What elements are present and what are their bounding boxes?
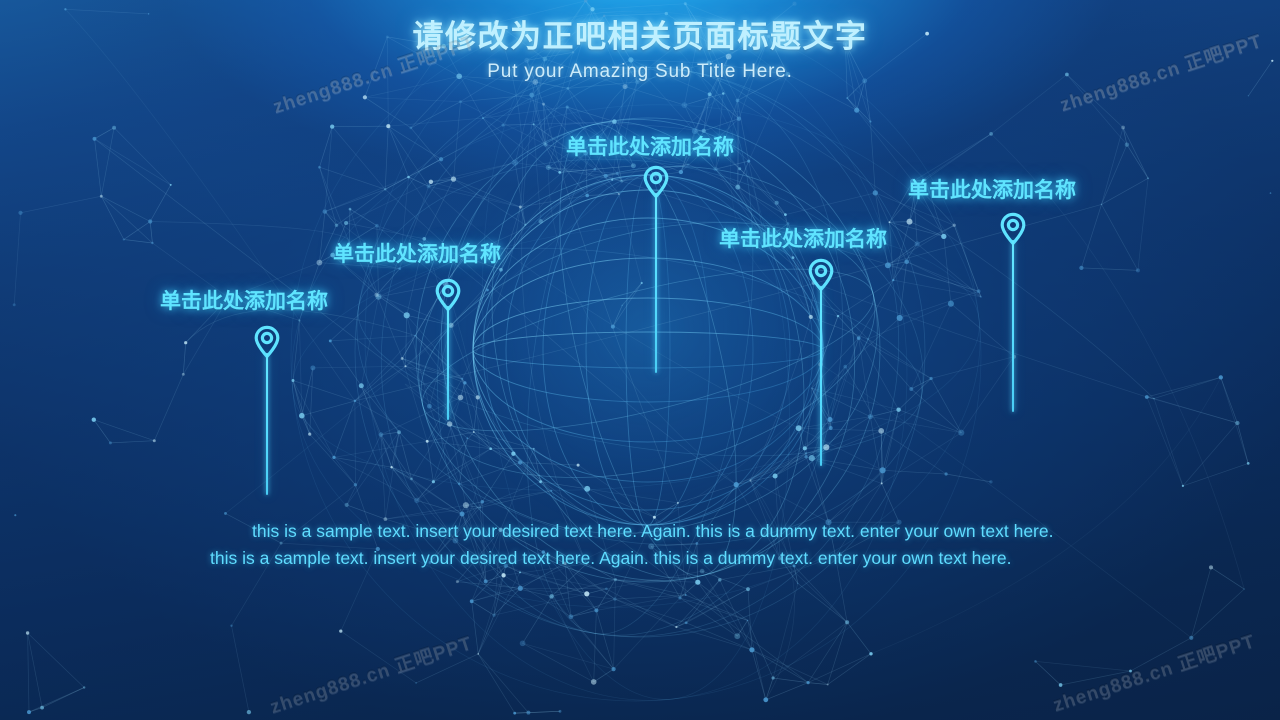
marker-2-label: 单击此处添加名称: [333, 244, 501, 265]
marker-2-stem: [447, 306, 449, 420]
marker-5-label: 单击此处添加名称: [908, 180, 1076, 201]
network-mesh: [0, 0, 1280, 720]
slide-canvas: 请修改为正吧相关页面标题文字 Put your Amazing Sub Titl…: [0, 0, 1280, 720]
marker-3-stem: [655, 193, 657, 373]
marker-5-stem: [1012, 240, 1014, 412]
marker-3-label: 单击此处添加名称: [566, 137, 734, 158]
marker-4-label: 单击此处添加名称: [719, 229, 887, 250]
page-subtitle: Put your Amazing Sub Title Here.: [0, 61, 1280, 83]
marker-1-stem: [266, 353, 268, 495]
marker-1-label: 单击此处添加名称: [160, 291, 328, 312]
page-title: 请修改为正吧相关页面标题文字: [0, 20, 1280, 54]
marker-4-stem: [820, 286, 822, 466]
title-block: 请修改为正吧相关页面标题文字 Put your Amazing Sub Titl…: [0, 20, 1280, 83]
body-paragraph: this is a sample text. insert your desir…: [210, 518, 1070, 573]
